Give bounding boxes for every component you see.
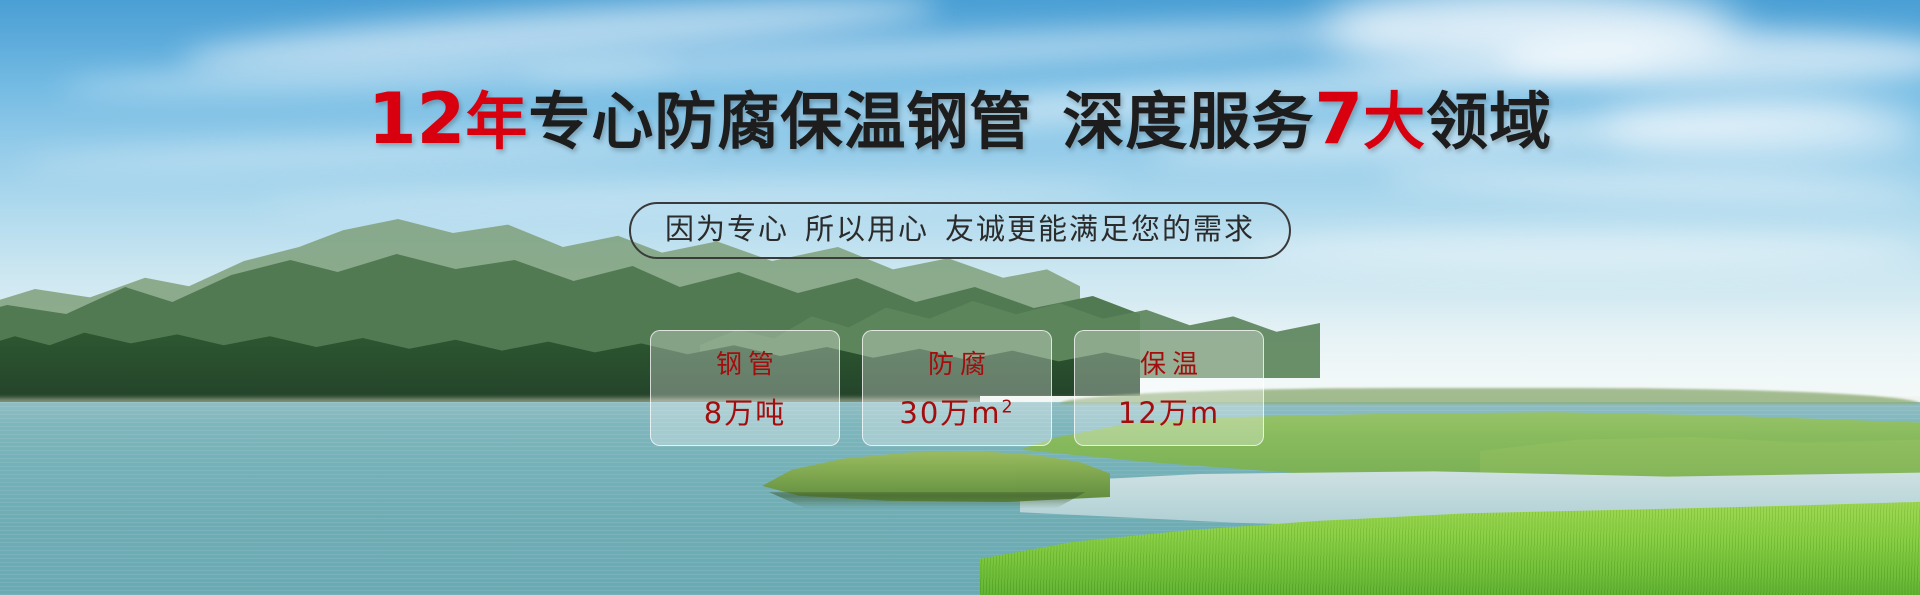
banner-headline: 12年专心防腐保温钢管深度服务7大领域	[0, 84, 1920, 154]
headline-fields-text: 领域	[1426, 85, 1552, 158]
stat-card-title: 防腐	[922, 344, 992, 381]
subtitle-part-c: 友诚更能满足您的需求	[945, 212, 1255, 246]
stat-card-title: 钢管	[710, 344, 780, 381]
subtitle-part-a: 因为专心	[665, 212, 789, 246]
headline-years-number: 12	[368, 78, 465, 160]
stat-card-steel-pipe[interactable]: 钢管 8万吨	[650, 330, 840, 446]
stat-card-value: 8万吨	[704, 390, 786, 432]
headline-seven-number: 7	[1314, 78, 1363, 160]
headline-service-text: 深度服务	[1062, 85, 1314, 158]
headline-years-unit: 年	[465, 85, 528, 158]
headline-big-char: 大	[1363, 85, 1426, 158]
headline-main-text: 专心防腐保温钢管	[528, 85, 1032, 158]
stat-card-title: 保温	[1134, 344, 1204, 381]
stat-card-group: 钢管 8万吨 防腐 30万m2 保温 12万m	[650, 330, 1264, 446]
stat-card-value-base: 12万m	[1118, 396, 1220, 430]
stat-card-value-base: 8万吨	[704, 396, 786, 430]
stat-card-value: 12万m	[1118, 390, 1220, 432]
stat-card-value: 30万m2	[899, 390, 1014, 432]
cloud-streak-icon	[1240, 230, 1920, 270]
stat-card-anticorrosion[interactable]: 防腐 30万m2	[862, 330, 1052, 446]
promo-banner: 12年专心防腐保温钢管深度服务7大领域 因为专心所以用心友诚更能满足您的需求 钢…	[0, 0, 1920, 595]
stat-card-value-superscript: 2	[1002, 397, 1015, 417]
banner-subtitle-pill: 因为专心所以用心友诚更能满足您的需求	[629, 202, 1291, 259]
stat-card-value-base: 30万m	[899, 396, 1001, 430]
subtitle-part-b: 所以用心	[805, 212, 929, 246]
stat-card-insulation[interactable]: 保温 12万m	[1074, 330, 1264, 446]
